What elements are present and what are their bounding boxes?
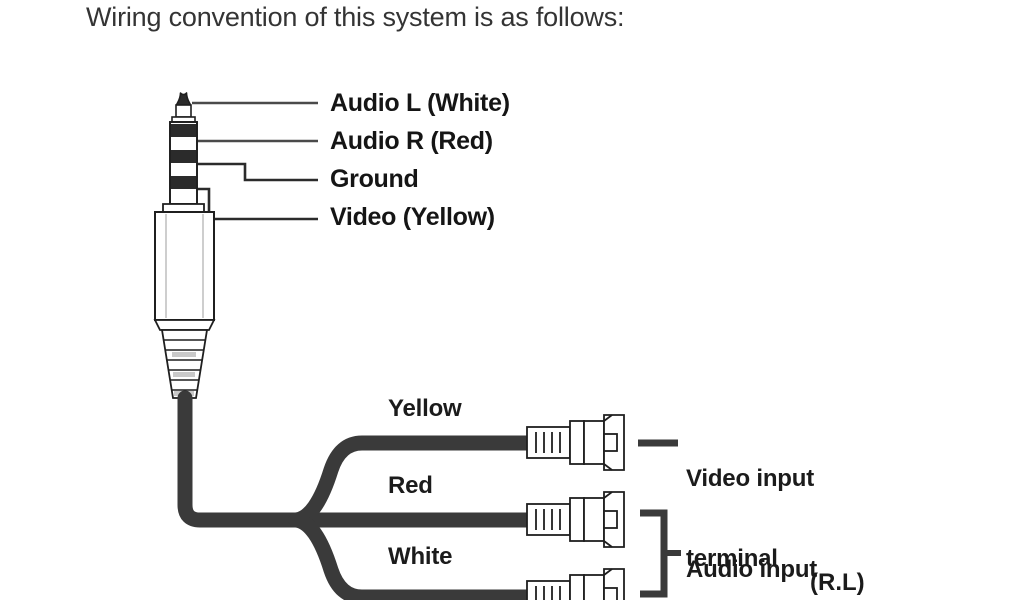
trrs-plug-body: [155, 93, 214, 398]
plug-tip: [177, 93, 191, 105]
branch-label-white: White: [388, 544, 452, 571]
rca-collar-white: [570, 575, 584, 600]
diagram-page: Wiring convention of this system is as f…: [0, 0, 1024, 600]
rca-connector-red: [527, 492, 624, 547]
terminal-label-audio-input-line1: Audio input: [686, 557, 817, 584]
cable-assembly: [185, 398, 532, 597]
leader-audio-input-terminal: [640, 513, 681, 594]
branch-label-yellow: Yellow: [388, 396, 462, 423]
rca-connector-white: [527, 569, 624, 600]
rca-boot-yellow: [527, 427, 570, 458]
plug-conductor-label-ground: Ground: [330, 165, 418, 193]
leader-lines: [192, 103, 318, 141]
rca-collar-yellow: [570, 421, 584, 464]
plug-band-2: [170, 150, 197, 163]
branch-label-red: Red: [388, 473, 433, 500]
rca-pin-white: [604, 588, 617, 600]
cable-trunk: [185, 398, 296, 520]
plug-band-1: [170, 124, 197, 137]
terminal-label-audio-input: Audio input terminal: [686, 503, 817, 600]
plug-conductor-label-audio-r: Audio R (Red): [330, 127, 493, 155]
rca-pin-red: [604, 511, 617, 528]
plug-shoulder: [163, 204, 204, 212]
rca-collar-red: [570, 498, 584, 541]
plug-conductor-label-video: Video (Yellow): [330, 203, 495, 231]
plug-band-3: [170, 176, 197, 189]
terminal-label-video-input-line1: Video input: [686, 466, 814, 493]
rca-connector-yellow: [527, 415, 624, 470]
plug-barrel-rim: [155, 320, 214, 330]
leader-ground: [184, 164, 318, 180]
plug-barrel: [155, 212, 214, 320]
rca-boot-red: [527, 504, 570, 535]
rca-barrel-yellow: [584, 421, 604, 464]
plug-conductor-label-audio-l: Audio L (White): [330, 89, 510, 117]
rca-boot-white: [527, 581, 570, 600]
rca-barrel-red: [584, 498, 604, 541]
page-title: Wiring convention of this system is as f…: [86, 2, 624, 32]
rca-barrel-white: [584, 575, 604, 600]
plug-tip-neck: [176, 105, 191, 117]
rca-pin-yellow: [604, 434, 617, 451]
wiring-diagram-graphic: [0, 0, 1024, 600]
terminal-note-rl: (R.L): [810, 570, 865, 597]
